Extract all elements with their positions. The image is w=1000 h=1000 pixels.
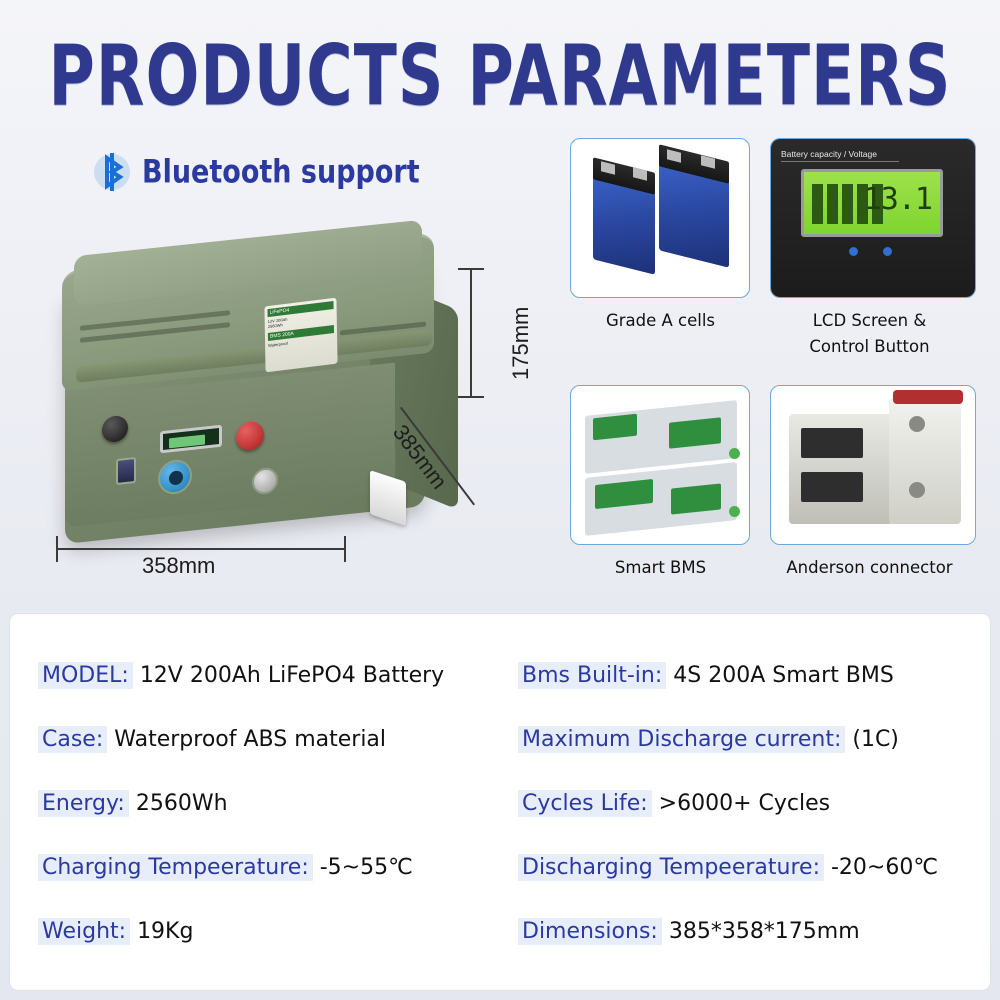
bms-led [729, 506, 740, 517]
spec-row: Discharging Tempeerature: -20~60℃ [518, 854, 938, 881]
lcd-caption-text: Battery capacity / Voltage [781, 149, 899, 162]
spec-value-cycles-life: >6000+ Cycles [659, 791, 830, 816]
spec-value-dimensions: 385*358*175mm [669, 919, 860, 944]
spec-row: MODEL: 12V 200Ah LiFePO4 Battery [38, 662, 444, 689]
anderson-red-strip [893, 390, 963, 404]
bluetooth-support: Bluetooth support [92, 148, 420, 196]
anderson-screw [909, 482, 925, 498]
lcd-display: 13.1 [801, 169, 943, 237]
height-dim-line [470, 268, 472, 398]
card-lcd-screen: Battery capacity / Voltage 13.1 [770, 138, 976, 298]
bluetooth-icon [92, 148, 132, 196]
height-dim-cap-top [458, 268, 484, 270]
spec-value-weight: 19Kg [137, 919, 193, 944]
spec-value-max-discharge-current: (1C) [852, 727, 899, 752]
spec-label-dimensions: Dimensions: [518, 918, 662, 945]
product-parameters-page: PRODUCTS PARAMETERS Bluetooth support Li… [0, 0, 1000, 1000]
width-dim-label: 358mm [142, 553, 215, 579]
spec-value-energy: 2560Wh [136, 791, 228, 816]
width-dim-cap-left [56, 536, 58, 562]
spec-value-discharging-temperature: -20~60℃ [831, 855, 938, 880]
page-title: PRODUCTS PARAMETERS [0, 26, 1000, 125]
bms-chip [669, 417, 721, 448]
spec-label-discharging-temperature: Discharging Tempeerature: [518, 854, 824, 881]
usb-port [116, 457, 136, 485]
spec-row: Cycles Life: >6000+ Cycles [518, 790, 830, 817]
card-anderson-connector [770, 385, 976, 545]
anderson-slot [801, 472, 863, 502]
card-caption-lcd-screen: LCD Screen & Control Button [763, 308, 976, 359]
spec-label-bms-built-in: Bms Built-in: [518, 662, 666, 689]
spec-value-bms-built-in: 4S 200A Smart BMS [673, 663, 894, 688]
spec-label-case: Case: [38, 726, 107, 753]
bms-chip [671, 483, 721, 514]
specifications-panel: MODEL: 12V 200Ah LiFePO4 Battery Case: W… [10, 614, 990, 990]
spec-row: Dimensions: 385*358*175mm [518, 918, 860, 945]
battery-photo: LiFePO4 12V 200Ah 2560Wh BMS 200A Waterp… [40, 230, 520, 590]
spec-row: Bms Built-in: 4S 200A Smart BMS [518, 662, 894, 689]
lcd-voltage-value: 13.1 [864, 182, 932, 217]
spec-row: Case: Waterproof ABS material [38, 726, 386, 753]
spec-value-case: Waterproof ABS material [114, 727, 386, 752]
bluetooth-label: Bluetooth support [142, 154, 420, 191]
bms-led [729, 448, 740, 459]
spec-row: Charging Tempeerature: -5~55℃ [38, 854, 413, 881]
lcd-indicator-dot [849, 247, 858, 256]
spec-value-model: 12V 200Ah LiFePO4 Battery [140, 663, 444, 688]
bluetooth-icon-svg [92, 148, 132, 196]
spec-label-max-discharge-current: Maximum Discharge current: [518, 726, 845, 753]
card-grade-a-cells [570, 138, 750, 298]
battery-label-sticker: LiFePO4 12V 200Ah 2560Wh BMS 200A Waterp… [264, 298, 337, 373]
anderson-screw [909, 416, 925, 432]
card-caption-anderson-connector: Anderson connector [763, 555, 976, 581]
height-dim-label: 175mm [508, 307, 534, 380]
anderson-slot [801, 428, 863, 458]
bms-chip [593, 414, 637, 441]
spec-label-weight: Weight: [38, 918, 130, 945]
spec-label-model: MODEL: [38, 662, 133, 689]
card-caption-grade-a-cells: Grade A cells [558, 308, 763, 334]
spec-row: Weight: 19Kg [38, 918, 193, 945]
card-smart-bms [570, 385, 750, 545]
spec-value-charging-temperature: -5~55℃ [320, 855, 413, 880]
anderson-housing-right [889, 398, 961, 524]
card-caption-smart-bms: Smart BMS [558, 555, 763, 581]
spec-label-energy: Energy: [38, 790, 129, 817]
height-dim-cap-bottom [458, 396, 484, 398]
spec-label-cycles-life: Cycles Life: [518, 790, 652, 817]
spec-label-charging-temperature: Charging Tempeerature: [38, 854, 313, 881]
spec-row: Maximum Discharge current: (1C) [518, 726, 899, 753]
width-dim-cap-right [344, 536, 346, 562]
lcd-indicator-dot [883, 247, 892, 256]
spec-row: Energy: 2560Wh [38, 790, 228, 817]
width-dim-line [56, 548, 346, 550]
